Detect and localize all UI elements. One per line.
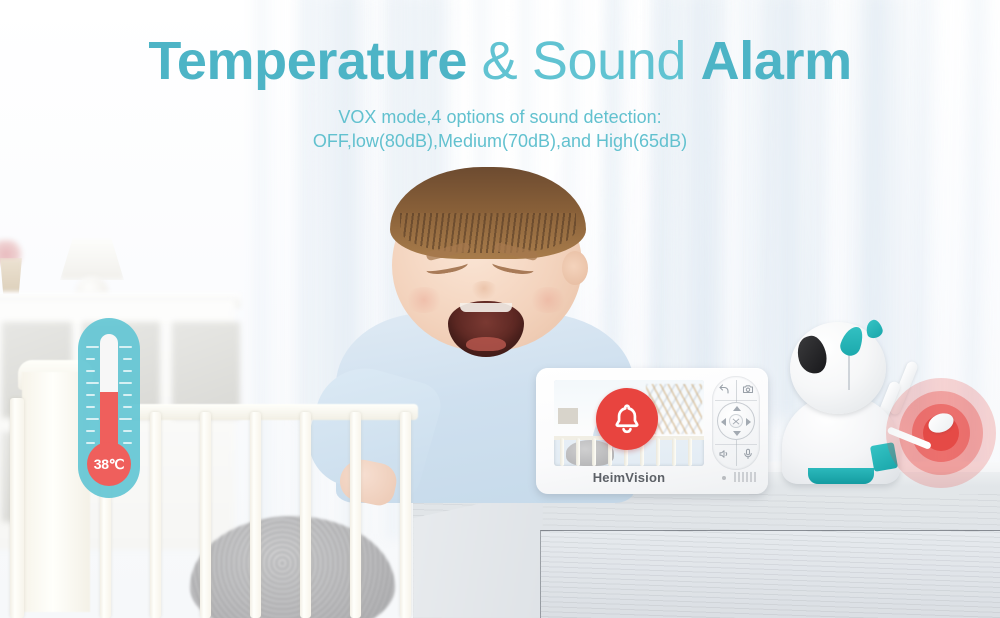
dpad-right[interactable] [746, 418, 751, 426]
screen-shelf [558, 408, 578, 424]
subtitle-line-1: VOX mode,4 options of sound detection: [0, 106, 1000, 130]
control-divider [715, 400, 757, 401]
dresser-drawer-front [540, 530, 1000, 618]
baby-cheek [404, 287, 444, 313]
baby-cheek [528, 287, 568, 313]
page-subtitle: VOX mode,4 options of sound detection: O… [0, 106, 1000, 154]
thermometer-bulb: 38℃ [87, 442, 131, 486]
dpad-left[interactable] [721, 418, 726, 426]
monitor-mic-pinhole [722, 476, 726, 480]
dpad[interactable] [717, 402, 755, 440]
dpad-down[interactable] [733, 431, 741, 436]
subtitle-line-2: OFF,low(80dB),Medium(70dB),and High(65dB… [0, 130, 1000, 154]
baby-ear [562, 251, 588, 285]
crib-slat [250, 412, 261, 618]
crib-corner-post [10, 398, 24, 618]
crib-slat [150, 412, 161, 618]
page-title: Temperature & Sound Alarm [0, 34, 1000, 88]
camera-foot-accent [808, 468, 874, 484]
dpad-center-button[interactable] [729, 414, 743, 428]
screen-pouf [566, 440, 614, 466]
microphone-icon [742, 448, 754, 460]
crib-slat [350, 412, 361, 618]
baby-monitor-device: HeimVision [536, 368, 768, 494]
promo-banner: Temperature & Sound Alarm VOX mode,4 opt… [0, 0, 1000, 618]
baby-hair [390, 167, 586, 259]
speaker-icon [718, 448, 730, 460]
back-button[interactable] [718, 383, 730, 395]
baby-nose [470, 281, 498, 299]
control-divider [715, 444, 757, 445]
camera-head [790, 322, 886, 414]
volume-button[interactable] [718, 448, 730, 460]
camera-ear-accent [864, 318, 885, 340]
header: Temperature & Sound Alarm VOX mode,4 opt… [0, 0, 1000, 154]
crib-slat [400, 412, 411, 618]
title-part-temperature: Temperature [148, 31, 467, 91]
camera-button[interactable] [742, 383, 754, 395]
mic-button[interactable] [742, 448, 754, 460]
sound-wave-indicator [886, 378, 996, 488]
camera-icon [742, 383, 754, 395]
monitor-control-panel [712, 376, 760, 470]
crib-slat [200, 412, 211, 618]
monitor-status-indicators [734, 472, 758, 482]
temperature-reading: 38℃ [94, 456, 124, 473]
title-part-alarm: Alarm [701, 31, 852, 91]
bell-icon [610, 402, 644, 436]
back-arrow-icon [718, 383, 730, 395]
monitor-brand-label: HeimVision [554, 470, 704, 485]
crib-slat [300, 412, 311, 618]
dpad-up[interactable] [733, 406, 741, 411]
camera-ear-accent [838, 324, 866, 359]
alarm-bell-badge [596, 388, 658, 450]
camera-lens [793, 333, 830, 377]
title-part-and-sound: & Sound [482, 31, 686, 91]
thermometer-icon: 38℃ [78, 318, 140, 498]
